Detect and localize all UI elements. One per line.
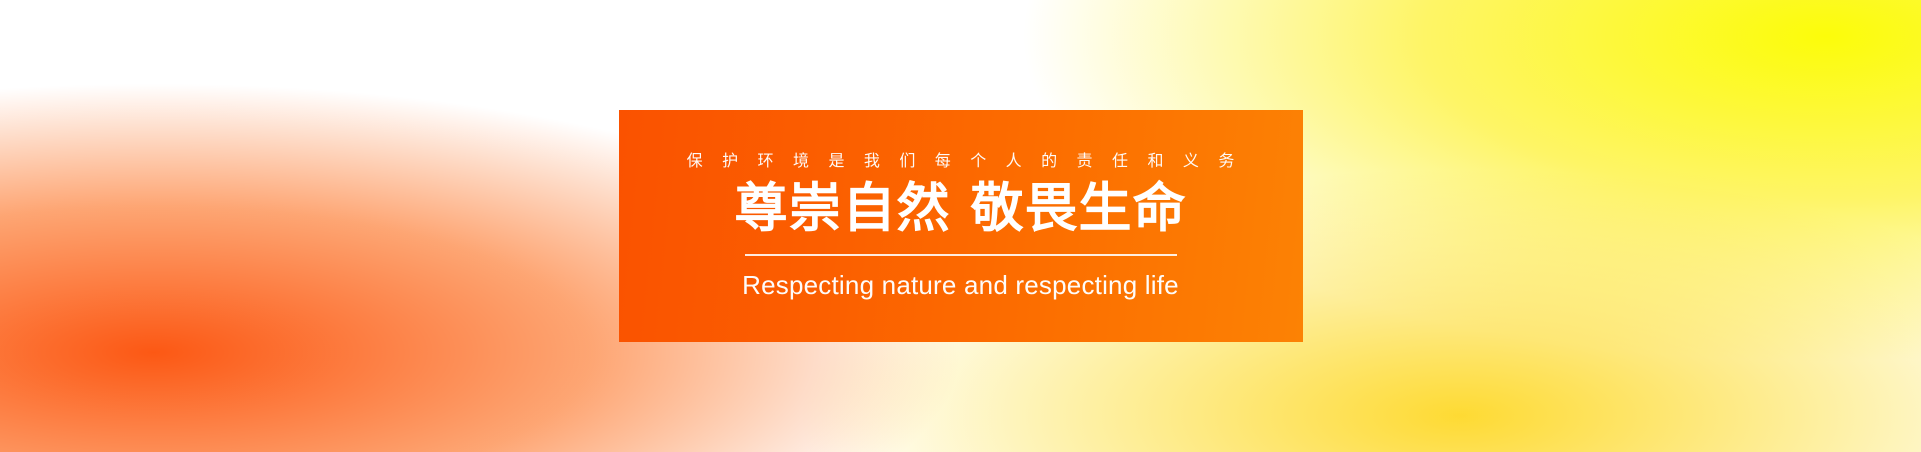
card-headline: 尊崇自然敬畏生命 [735,180,1187,237]
headline-part-two: 敬畏生命 [971,179,1187,238]
card-divider [745,254,1177,256]
environmental-banner: 保 护 环 境 是 我 们 每 个 人 的 责 任 和 义 务 尊崇自然敬畏生命… [0,0,1921,452]
message-card: 保 护 环 境 是 我 们 每 个 人 的 责 任 和 义 务 尊崇自然敬畏生命… [619,110,1303,342]
headline-part-one: 尊崇自然 [735,179,951,238]
card-tagline: Respecting nature and respecting life [742,271,1179,301]
card-subtitle: 保 护 环 境 是 我 们 每 个 人 的 责 任 和 义 务 [679,153,1242,171]
